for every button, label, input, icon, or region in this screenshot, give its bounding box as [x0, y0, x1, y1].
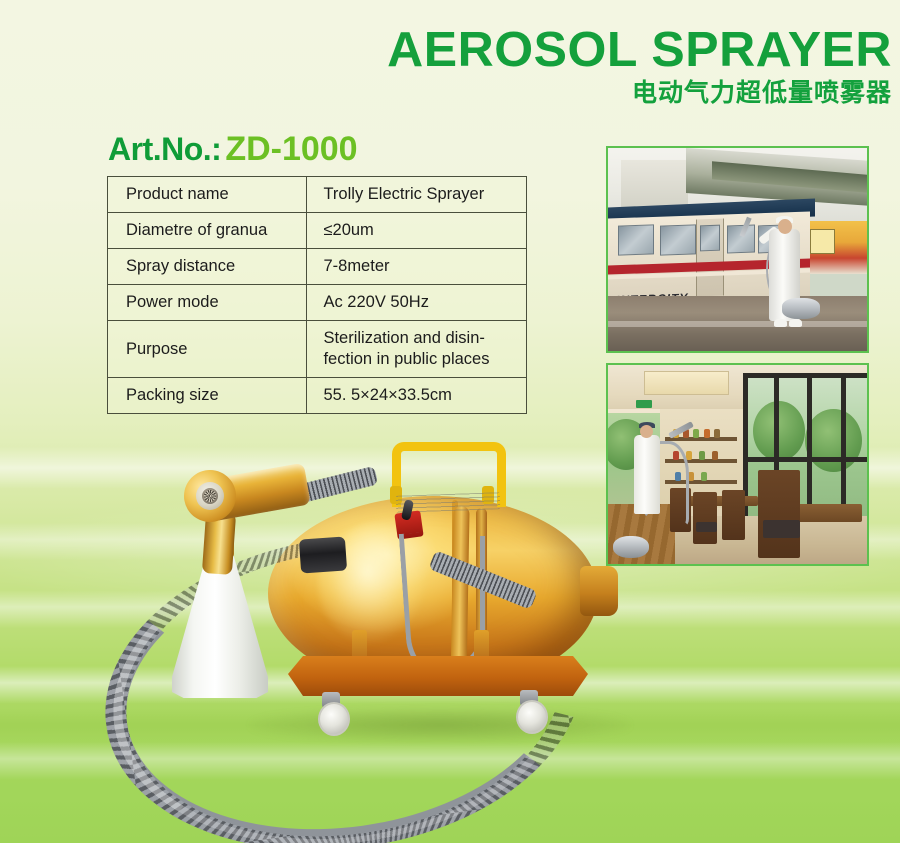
bench-table: [794, 504, 861, 522]
operator-shoe: [774, 319, 787, 327]
product-image-sprayer: [0, 420, 700, 843]
spec-key: Product name: [108, 177, 307, 213]
far-train-window: [810, 229, 835, 253]
spec-value: ≤20um: [307, 213, 527, 249]
photo-train-platform-disinfection: INTERCITY: [606, 146, 869, 353]
table-row: Spray distance 7-8meter: [108, 249, 527, 285]
spec-value: Ac 220V 50Hz: [307, 285, 527, 321]
page-title-chinese: 电动气力超低量喷雾器: [292, 81, 892, 106]
nozzle-atomizer-icon: [202, 488, 218, 504]
spec-value: Sterilization and disin- fection in publ…: [307, 321, 527, 378]
table-row: Purpose Sterilization and disin- fection…: [108, 321, 527, 378]
spec-key: Purpose: [108, 321, 307, 378]
page-header: AEROSOL SPRAYER 电动气力超低量喷雾器: [292, 26, 892, 106]
tank-end-cap: [580, 566, 618, 616]
hose-connector: [299, 536, 347, 573]
spec-value: 55. 5×24×33.5cm: [307, 378, 527, 414]
article-number: Art.No.:ZD-1000: [108, 132, 358, 166]
spec-key: Diametre of granua: [108, 213, 307, 249]
sprayer-unit: [782, 298, 821, 318]
dining-chair-foreground: [758, 470, 799, 558]
spec-value: 7-8meter: [307, 249, 527, 285]
article-number-value: ZD-1000: [225, 130, 357, 168]
table-row: Product name Trolly Electric Sprayer: [108, 177, 527, 213]
chair-seat: [763, 520, 799, 538]
window-transom: [743, 373, 867, 378]
shelf-jar: [704, 429, 710, 438]
outdoor-tree: [753, 401, 805, 461]
page-title-english: AEROSOL SPRAYER: [280, 26, 892, 75]
platform-safety-line: [608, 321, 867, 327]
window-transom: [743, 457, 867, 462]
spec-key: Packing size: [108, 378, 307, 414]
operator-head: [778, 219, 792, 234]
table-row: Packing size 55. 5×24×33.5cm: [108, 378, 527, 414]
spec-key: Power mode: [108, 285, 307, 321]
shelf-jar: [712, 451, 718, 460]
train-door-window: [700, 225, 720, 252]
spec-key: Spray distance: [108, 249, 307, 285]
train-window: [618, 225, 654, 257]
exit-sign: [636, 400, 652, 408]
article-number-label: Art.No.:: [108, 131, 221, 167]
specification-table: Product name Trolly Electric Sprayer Dia…: [107, 176, 527, 414]
table-row: Diametre of granua ≤20um: [108, 213, 527, 249]
ceiling-light-panel: [644, 371, 729, 395]
train-window: [660, 225, 696, 257]
shelf-jar: [701, 472, 707, 481]
outdoor-tree: [805, 409, 862, 473]
spec-value: Trolly Electric Sprayer: [307, 177, 527, 213]
table-row: Power mode Ac 220V 50Hz: [108, 285, 527, 321]
product-advertisement-page: AEROSOL SPRAYER 电动气力超低量喷雾器 Art.No.:ZD-10…: [0, 0, 900, 843]
dining-chair: [722, 490, 745, 540]
operator-shoe: [789, 319, 802, 327]
shelf-jar: [714, 429, 720, 438]
train-photo-artwork: INTERCITY: [608, 148, 867, 351]
